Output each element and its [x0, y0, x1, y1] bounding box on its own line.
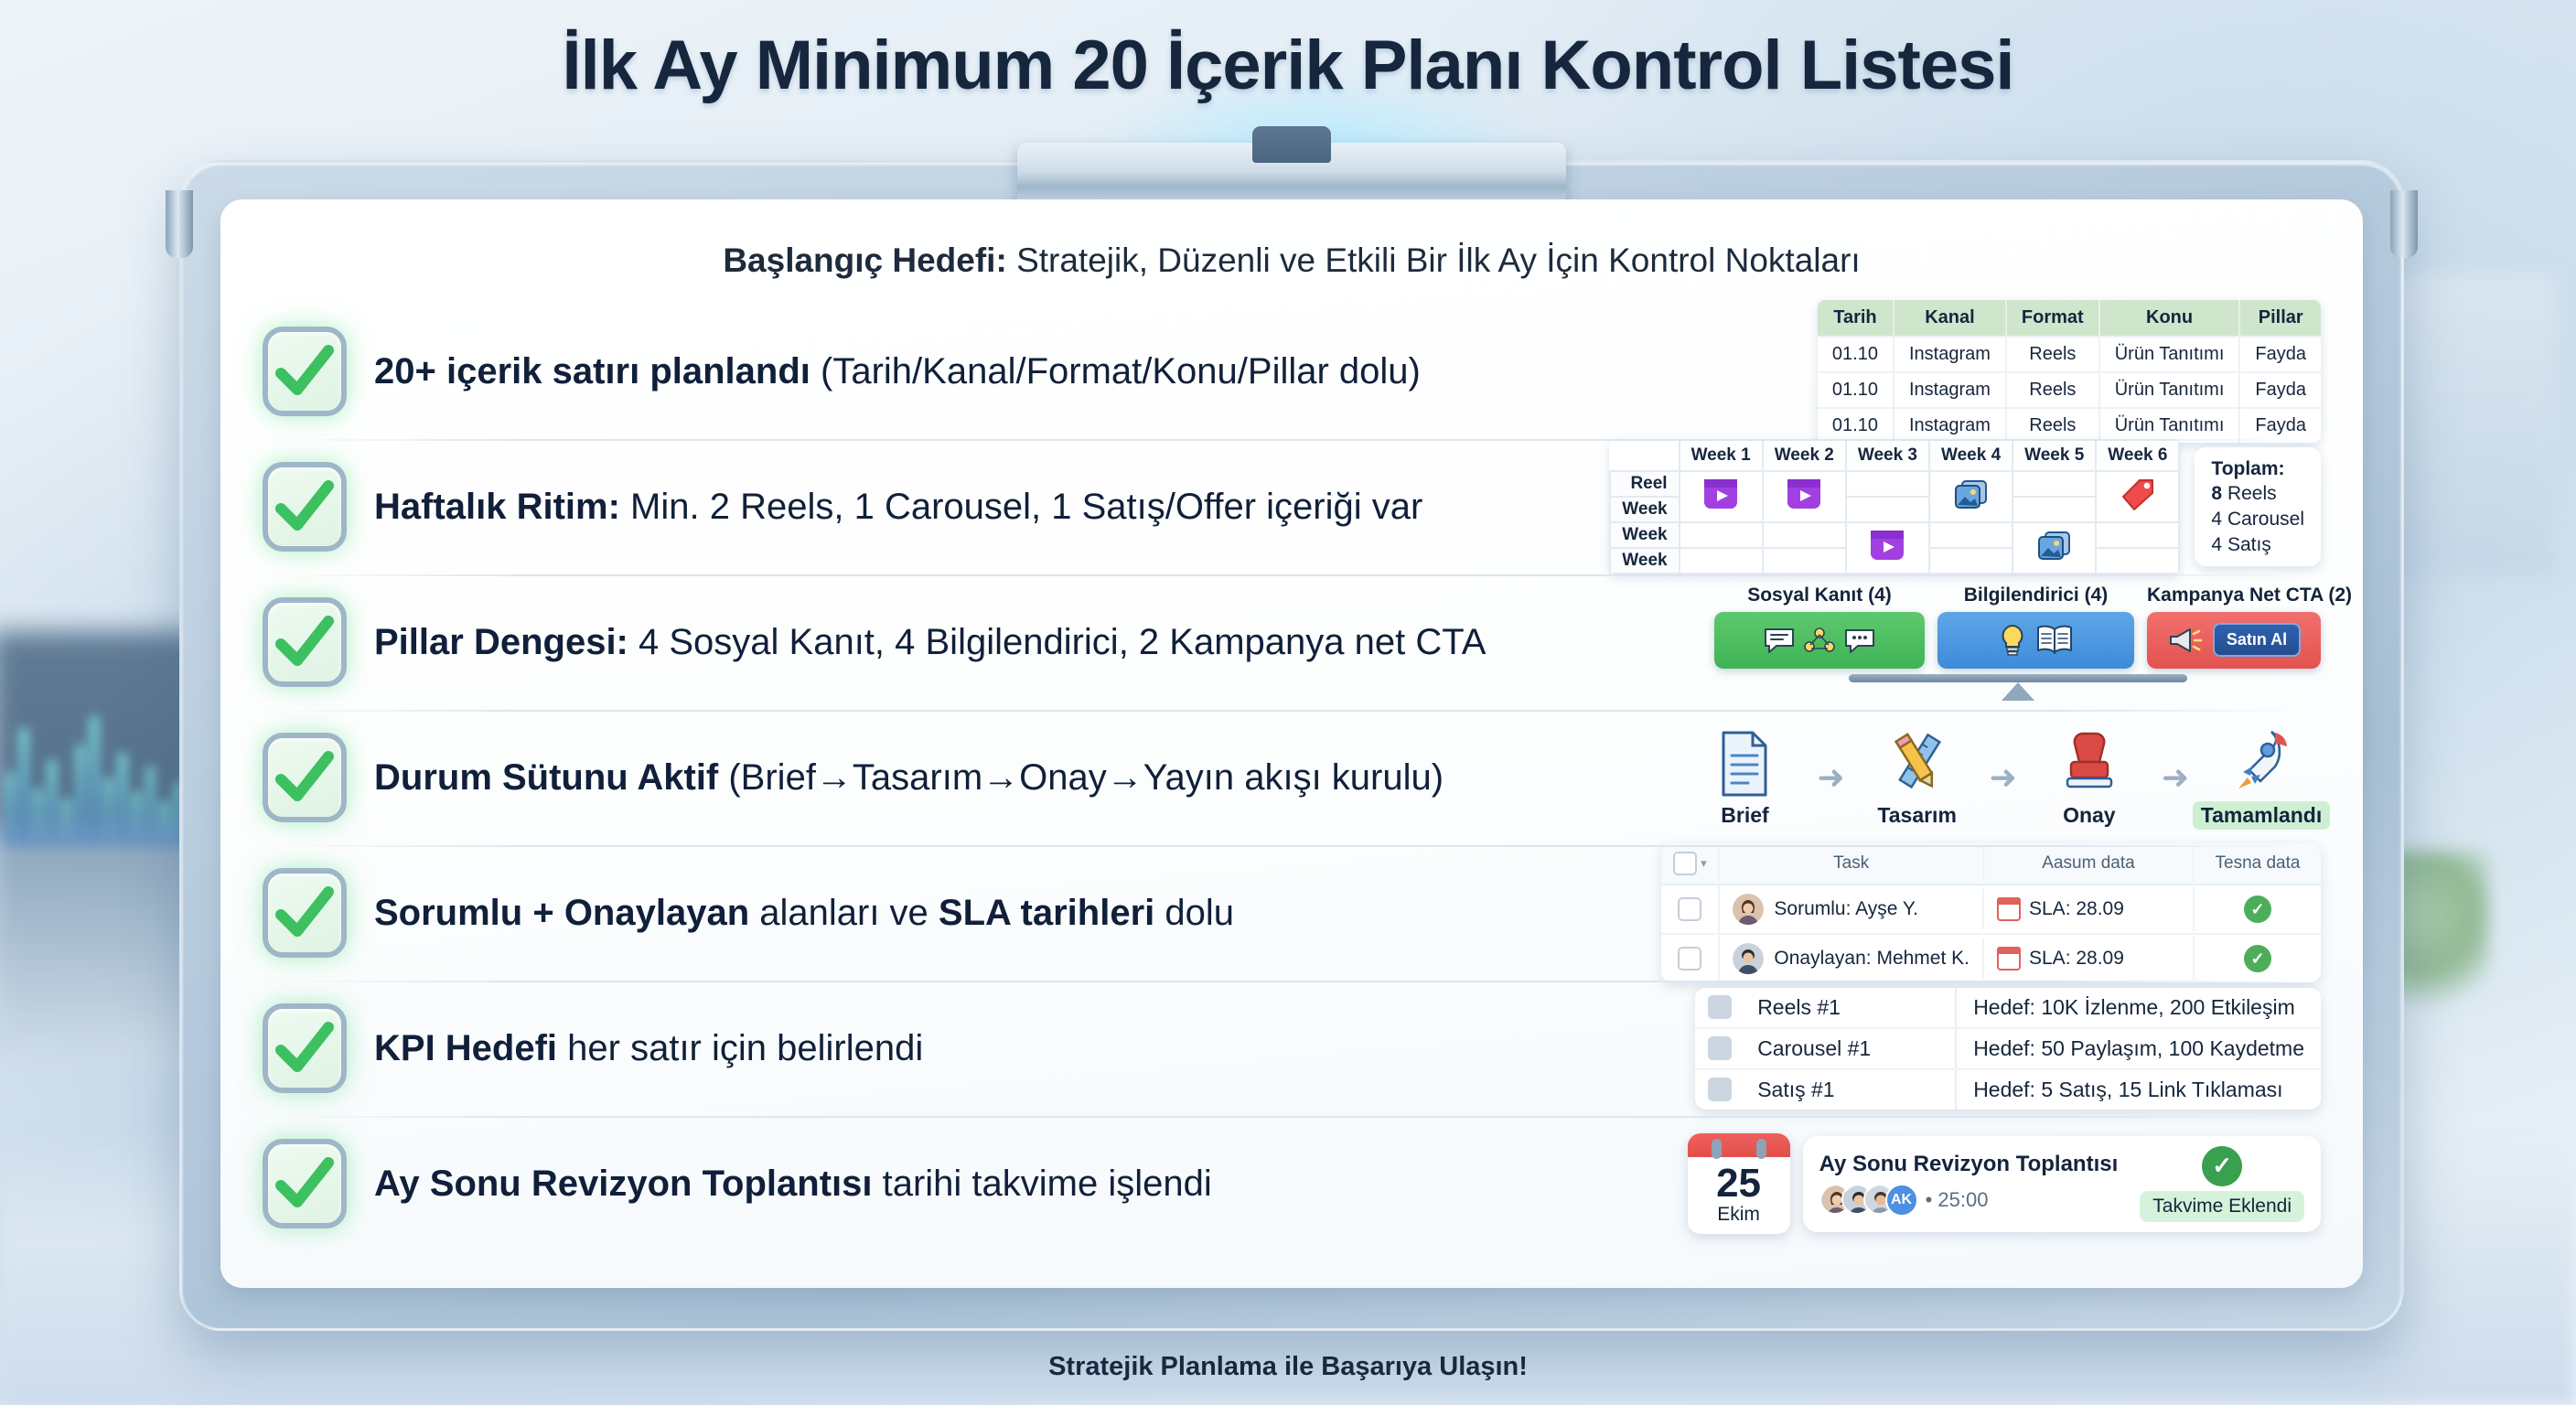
square-icon: [1708, 1036, 1732, 1060]
calendar-ring-right: [1756, 1139, 1766, 1159]
checkbox-checked-icon[interactable]: [263, 868, 347, 958]
table-row: 01.10 Instagram Reels Ürün Tanıtımı Fayd…: [1818, 371, 2321, 407]
visual-meeting: 25 Ekim Ay Sonu Revizyon Toplantısı: [1688, 1133, 2321, 1234]
cell-empty: [1763, 522, 1846, 548]
workflow-step-tamamlandi: Tamamlandı: [2202, 726, 2321, 830]
week-col-3: Week 3: [1846, 440, 1929, 471]
pillar-label-info: Bilgilendirici (4): [1937, 585, 2134, 606]
table-row: Carousel #1 Hedef: 50 Paylaşım, 100 Kayd…: [1695, 1029, 2321, 1070]
cell-empty: [2012, 471, 2096, 497]
cell-empty: [1929, 548, 2012, 574]
square-icon: [1708, 995, 1732, 1019]
week-row-label: Week: [1610, 497, 1679, 522]
cell-empty: [1763, 548, 1846, 574]
checklist-label-6: KPI Hedefi her satır için belirlendi: [374, 1027, 1668, 1069]
content-week-table: Week 1 Week 2 Week 3 Week 4 Week 5 Week …: [1609, 439, 2180, 574]
clipboard-clip-nub: [1252, 126, 1331, 163]
task-row-checkbox[interactable]: [1661, 889, 1718, 929]
balance-fulcrum: [1714, 674, 2321, 701]
status-check-icon: ✓: [2244, 945, 2271, 972]
plan-col-tarih: Tarih: [1818, 300, 1894, 336]
cell-empty: [1846, 471, 1929, 497]
task-col-tesna: Tesna data: [2193, 845, 2321, 882]
kpi-name: Reels #1: [1744, 988, 1955, 1027]
workflow-label-tasarim: Tasarım: [1877, 803, 1957, 828]
calendar-header: [1688, 1133, 1790, 1157]
cell-empty: [2096, 522, 2179, 548]
meeting-status: ✓ Takvime Eklendi: [2140, 1146, 2304, 1222]
week-col-4: Week 4: [1929, 440, 2012, 471]
pillar-bars: Satın Al: [1714, 612, 2321, 669]
pillar-bar-cta: Satın Al: [2147, 612, 2321, 669]
megaphone-icon: [2167, 625, 2206, 656]
checkbox-checked-icon[interactable]: [263, 597, 347, 687]
kpi-goal: Hedef: 10K İzlenme, 200 Etkileşim: [1955, 988, 2321, 1027]
plan-cell: Fayda: [2240, 371, 2321, 407]
total-carousel-label: Carousel: [2222, 509, 2304, 530]
table-row[interactable]: Onaylayan: Mehmet K. SLA: 28.09 ✓: [1661, 935, 2321, 982]
checkbox-icon[interactable]: [1678, 897, 1701, 921]
content-kpi-card: Reels #1 Hedef: 10K İzlenme, 200 Etkileş…: [1695, 988, 2321, 1110]
kpi-marker: [1695, 1070, 1744, 1109]
avatar-stack: AK: [1819, 1184, 1918, 1217]
pencil-ruler-icon: [1884, 728, 1951, 799]
clipboard-clip-arm-right: [2390, 190, 2418, 258]
checklist-label-4: Durum Sütunu Aktif (Brief→Tasarım→Onay→Y…: [374, 756, 1658, 799]
comment-icon: [1763, 626, 1796, 655]
avatar: [1733, 894, 1764, 925]
week-col-1: Week 1: [1680, 440, 1763, 471]
checklist-label-2-rest: Min. 2 Reels, 1 Carousel, 1 Satış/Offer …: [620, 487, 1422, 527]
checklist-label-2-bold: Haftalık Ritim:: [374, 487, 620, 527]
total-reels-count: 8: [2211, 483, 2222, 504]
week-row-label: Week: [1610, 548, 1679, 574]
plan-cell: Ürün Tanıtımı: [2100, 371, 2241, 407]
table-row: Satış #1 Hedef: 5 Satış, 15 Link Tıklama…: [1695, 1070, 2321, 1110]
cell-empty: [2012, 497, 2096, 522]
checklist-row-3[interactable]: Pillar Dengesi: 4 Sosyal Kanıt, 4 Bilgil…: [263, 574, 2321, 710]
checklist-label-1-rest: (Tarih/Kanal/Format/Konu/Pillar dolu): [810, 351, 1421, 391]
week-col-5: Week 5: [2012, 440, 2096, 471]
checklist-label-6-rest: her satır için belirlendi: [557, 1028, 923, 1068]
plan-table-header-row: Tarih Kanal Format Konu Pillar: [1818, 300, 2321, 336]
pillar-bar-social: [1714, 612, 1925, 669]
cell-empty: [1680, 548, 1763, 574]
table-row: 01.10 Instagram Reels Ürün Tanıtımı Fayd…: [1818, 407, 2321, 443]
plan-col-konu: Konu: [2100, 300, 2241, 336]
checkbox-checked-icon[interactable]: [263, 733, 347, 822]
rocket-icon: [2227, 726, 2295, 798]
checklist-label-4-bold: Durum Sütunu Aktif: [374, 757, 718, 798]
calendar-month: Ekim: [1688, 1204, 1790, 1234]
subtitle-bold: Başlangıç Hedefi:: [723, 241, 1006, 279]
workflow-label-tamamlandi: Tamamlandı: [2193, 801, 2331, 830]
workflow-label-onay: Onay: [2063, 803, 2116, 828]
total-reels-label: Reels: [2222, 483, 2277, 504]
checklist-row-6[interactable]: KPI Hedefi her satır için belirlendi Ree…: [263, 981, 2321, 1116]
kpi-name: Carousel #1: [1744, 1029, 1955, 1068]
table-row: Reels #1 Hedef: 10K İzlenme, 200 Etkileş…: [1695, 988, 2321, 1029]
week-row-label: Week: [1610, 522, 1679, 548]
task-name: Sorumlu: Ayşe Y.: [1774, 898, 1918, 920]
calendar-icon: [1997, 947, 2021, 971]
clipboard-clip-arm-left: [166, 190, 193, 258]
checkbox-checked-icon[interactable]: [263, 1003, 347, 1093]
visual-kpi-panel: Reels #1 Hedef: 10K İzlenme, 200 Etkileş…: [1695, 988, 2321, 1110]
cell-reels-icon: [1846, 522, 1929, 574]
checklist-label-5-rest2: dolu: [1154, 893, 1234, 933]
task-status-cell: ✓: [2193, 887, 2321, 931]
checklist-label-5: Sorumlu + Onaylayan alanları ve SLA tari…: [374, 892, 1634, 934]
workflow-step-onay: Onay: [2030, 728, 2149, 828]
kpi-goal: Hedef: 50 Paylaşım, 100 Kaydetme: [1955, 1029, 2321, 1068]
total-satis-count: 4: [2211, 534, 2222, 555]
plan-cell: Instagram: [1894, 336, 2007, 371]
visual-task-panel: ▾ Task Aasum data Tesna data: [1661, 843, 2321, 982]
cell-carousel-icon: [2012, 522, 2096, 574]
workflow-label-brief: Brief: [1721, 803, 1768, 828]
plan-cell: Fayda: [2240, 336, 2321, 371]
workflow-step-tasarim: Tasarım: [1858, 728, 1977, 828]
balance-beam: [1849, 674, 2187, 682]
checklist-label-5-bold: Sorumlu + Onaylayan: [374, 893, 749, 933]
plan-col-kanal: Kanal: [1894, 300, 2007, 336]
cell-empty: [1846, 497, 1929, 522]
calendar-ring-left: [1712, 1139, 1722, 1159]
plan-cell: Reels: [2007, 407, 2100, 443]
plan-cell: Instagram: [1894, 407, 2007, 443]
clipboard: Başlangıç Hedefi: Stratejik, Düzenli ve …: [179, 160, 2404, 1331]
checkbox-icon[interactable]: [1678, 947, 1701, 971]
plan-col-format: Format: [2007, 300, 2100, 336]
checklist-label-2: Haftalık Ritim: Min. 2 Reels, 1 Carousel…: [374, 486, 1582, 528]
book-icon: [2034, 623, 2075, 658]
checklist-row-1[interactable]: 20+ içerik satırı planlandı (Tarih/Kanal…: [263, 304, 2321, 439]
task-row-checkbox[interactable]: [1661, 938, 1718, 979]
checklist-row-7[interactable]: Ay Sonu Revizyon Toplantısı tarihi takvi…: [263, 1116, 2321, 1251]
avatar-initials: AK: [1885, 1184, 1918, 1217]
checklist-row-5[interactable]: Sorumlu + Onaylayan alanları ve SLA tari…: [263, 845, 2321, 981]
checkbox-checked-icon[interactable]: [263, 327, 347, 416]
checklist-label-6-bold: KPI Hedefi: [374, 1028, 557, 1068]
cta-button[interactable]: Satın Al: [2213, 623, 2301, 657]
plan-cell: Reels: [2007, 336, 2100, 371]
status-check-icon: ✓: [2202, 1146, 2242, 1186]
table-row: Reel: [1610, 471, 2179, 497]
visual-week-grid: Week 1 Week 2 Week 3 Week 4 Week 5 Week …: [1609, 439, 2321, 574]
kpi-marker: [1695, 988, 1744, 1026]
checkbox-icon[interactable]: [1673, 852, 1697, 875]
calendar-day: 25: [1688, 1157, 1790, 1204]
checklist-label-5-bold2: SLA tarihleri: [939, 893, 1154, 933]
document-icon: [1711, 728, 1778, 799]
plan-cell: Ürün Tanıtımı: [2100, 336, 2241, 371]
visual-pillar-balance: Sosyal Kanıt (4) Bilgilendirici (4) Kamp…: [1714, 585, 2321, 701]
status-check-icon: ✓: [2244, 896, 2271, 923]
subtitle: Başlangıç Hedefi: Stratejik, Düzenli ve …: [263, 241, 2321, 280]
checkbox-checked-icon[interactable]: [263, 462, 347, 552]
task-col-task: Task: [1718, 845, 1982, 882]
task-select-all-checkbox[interactable]: ▾: [1661, 843, 1718, 884]
lightbulb-icon: [1998, 623, 2027, 658]
checklist-label-1: 20+ içerik satırı planlandı (Tarih/Kanal…: [374, 350, 1790, 392]
arrow-right-icon: ➜: [1990, 761, 2017, 794]
week-corner: [1610, 440, 1679, 471]
task-sla-date: SLA: 28.09: [2029, 948, 2124, 970]
task-name-cell: Onaylayan: Mehmet K.: [1718, 935, 1982, 982]
visual-plan-table: Tarih Kanal Format Konu Pillar 01.10 Ins…: [1818, 300, 2321, 443]
kpi-goal: Hedef: 5 Satış, 15 Link Tıklaması: [1955, 1070, 2321, 1110]
plan-cell: Ürün Tanıtımı: [2100, 407, 2241, 443]
checklist-label-7-rest: tarihi takvime işlendi: [873, 1164, 1212, 1204]
cell-reels-icon: [1680, 471, 1763, 522]
checklist-row-4[interactable]: Durum Sütunu Aktif (Brief→Tasarım→Onay→Y…: [263, 710, 2321, 845]
content-plan-table: Tarih Kanal Format Konu Pillar 01.10 Ins…: [1818, 300, 2321, 443]
arrow-right-icon: ➜: [1817, 761, 1844, 794]
checklist-label-3-rest: 4 Sosyal Kanıt, 4 Bilgilendirici, 2 Kamp…: [628, 622, 1487, 662]
plan-col-pillar: Pillar: [2240, 300, 2321, 336]
checklist-label-7: Ay Sonu Revizyon Toplantısı tarihi takvi…: [374, 1163, 1660, 1205]
balance-triangle: [2002, 682, 2034, 701]
task-name: Onaylayan: Mehmet K.: [1774, 948, 1970, 970]
checklist-label-5-rest: alanları ve: [749, 893, 939, 933]
people-icon: [1803, 626, 1836, 655]
table-row[interactable]: Sorumlu: Ayşe Y. SLA: 28.09 ✓: [1661, 885, 2321, 935]
status-badge: Takvime Eklendi: [2140, 1191, 2304, 1222]
checkbox-checked-icon[interactable]: [263, 1139, 347, 1228]
week-totals: Toplam: 8 Reels 4 Carousel 4 Satış: [2195, 447, 2321, 567]
table-row: Week: [1610, 522, 2179, 548]
week-col-2: Week 2: [1763, 440, 1846, 471]
cell-carousel-icon: [1929, 471, 2012, 522]
avatar: [1733, 943, 1764, 974]
pillar-label-cta: Kampanya Net CTA (2): [2147, 585, 2321, 606]
pillar-label-social: Sosyal Kanıt (4): [1714, 585, 1925, 606]
week-header-row: Week 1 Week 2 Week 3 Week 4 Week 5 Week …: [1610, 440, 2179, 471]
meeting-time: • 25:00: [1926, 1188, 1989, 1212]
total-satis-label: Satış: [2222, 534, 2271, 555]
footer-tagline: Stratejik Planlama ile Başarıya Ulaşın!: [0, 1352, 2576, 1382]
cell-reels-icon: [1763, 471, 1846, 522]
workflow-step-brief: Brief: [1685, 728, 1804, 828]
week-totals-title: Toplam:: [2211, 458, 2284, 479]
calendar-icon: [1997, 897, 2021, 921]
kpi-name: Satış #1: [1744, 1070, 1955, 1110]
task-date-cell: SLA: 28.09: [1982, 889, 2193, 929]
plan-cell: Instagram: [1894, 371, 2007, 407]
meeting-attendees-row: AK • 25:00: [1819, 1184, 2119, 1217]
week-col-6: Week 6: [2096, 440, 2179, 471]
cell-empty: [1680, 522, 1763, 548]
checklist-row-2[interactable]: Haftalık Ritim: Min. 2 Reels, 1 Carousel…: [263, 439, 2321, 574]
checklist-label-3-bold: Pillar Dengesi:: [374, 622, 628, 662]
checklist: 20+ içerik satırı planlandı (Tarih/Kanal…: [263, 304, 2321, 1251]
checklist-label-1-bold: 20+ içerik satırı planlandı: [374, 351, 810, 391]
stamp-icon: [2055, 728, 2123, 799]
page-title: İlk Ay Minimum 20 İçerik Planı Kontrol L…: [0, 26, 2576, 105]
plan-cell: 01.10: [1818, 336, 1894, 371]
meeting-title: Ay Sonu Revizyon Toplantısı: [1819, 1152, 2119, 1177]
task-name-cell: Sorumlu: Ayşe Y.: [1718, 885, 1982, 933]
table-row: 01.10 Instagram Reels Ürün Tanıtımı Fayd…: [1818, 336, 2321, 371]
plan-cell: 01.10: [1818, 371, 1894, 407]
task-date-cell: SLA: 28.09: [1982, 938, 2193, 979]
plan-cell: 01.10: [1818, 407, 1894, 443]
kpi-marker: [1695, 1029, 1744, 1067]
cell-empty: [1929, 522, 2012, 548]
task-sla-date: SLA: 28.09: [2029, 898, 2124, 920]
chevron-down-icon[interactable]: ▾: [1701, 856, 1707, 871]
plan-cell: Fayda: [2240, 407, 2321, 443]
checklist-label-4-rest: (Brief→Tasarım→Onay→Yayın akışı kurulu): [718, 757, 1444, 798]
task-header-row: ▾ Task Aasum data Tesna data: [1661, 843, 2321, 885]
total-carousel-count: 4: [2211, 509, 2222, 530]
content-task-card: ▾ Task Aasum data Tesna data: [1661, 843, 2321, 982]
plan-cell: Reels: [2007, 371, 2100, 407]
checklist-label-3: Pillar Dengesi: 4 Sosyal Kanıt, 4 Bilgil…: [374, 621, 1687, 663]
visual-workflow: Brief ➜ Tasarım ➜ Onay ➜: [1685, 726, 2321, 830]
meeting-details: Ay Sonu Revizyon Toplantısı: [1819, 1152, 2119, 1217]
arrow-right-icon: ➜: [2162, 761, 2189, 794]
task-status-cell: ✓: [2193, 937, 2321, 981]
pillar-bar-info: [1937, 612, 2134, 669]
subtitle-rest: Stratejik, Düzenli ve Etkili Bir İlk Ay …: [1007, 241, 1861, 279]
cell-tag-icon: [2096, 471, 2179, 522]
square-icon: [1708, 1078, 1732, 1101]
cell-empty: [2096, 548, 2179, 574]
checklist-paper: Başlangıç Hedefi: Stratejik, Düzenli ve …: [220, 199, 2363, 1288]
week-row-label: Reel: [1610, 471, 1679, 497]
checklist-label-7-bold: Ay Sonu Revizyon Toplantısı: [374, 1164, 873, 1204]
task-col-assume: Aasum data: [1982, 845, 2193, 882]
chat-icon: [1843, 626, 1876, 655]
calendar-date-card: 25 Ekim: [1688, 1133, 1790, 1234]
meeting-card[interactable]: Ay Sonu Revizyon Toplantısı: [1803, 1136, 2321, 1232]
pillar-labels: Sosyal Kanıt (4) Bilgilendirici (4) Kamp…: [1714, 585, 2321, 606]
